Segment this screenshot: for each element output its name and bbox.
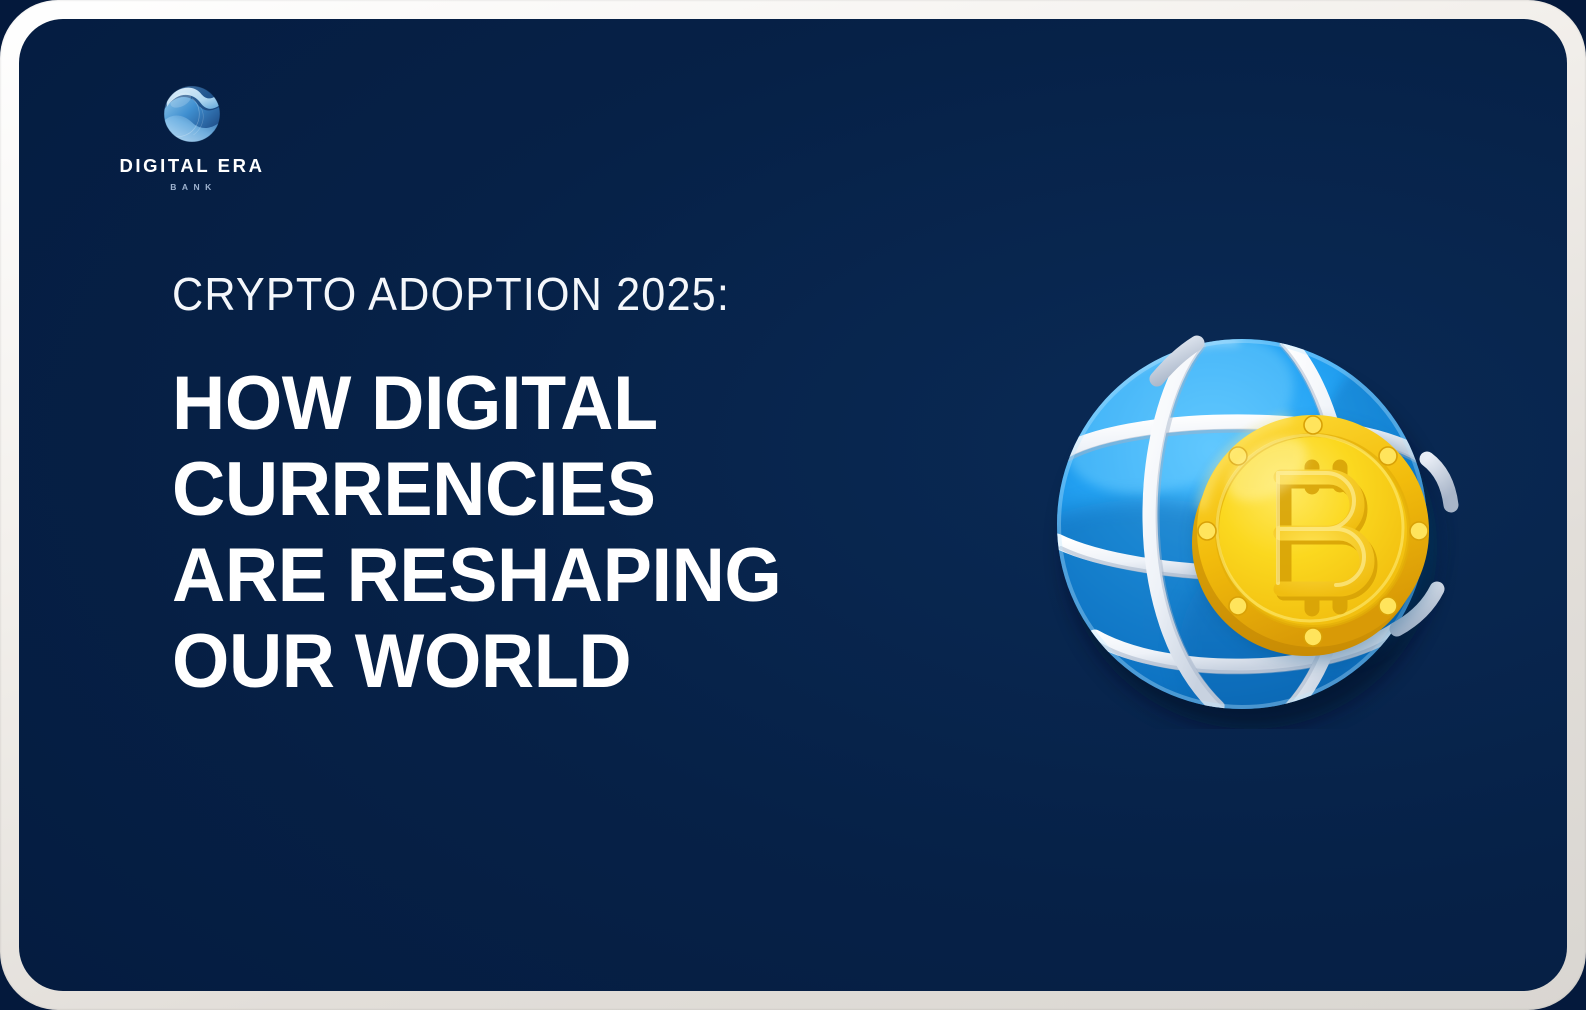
headline-line-1: HOW DIGITAL	[172, 361, 977, 447]
bitcoin-symbol-icon	[1278, 463, 1370, 609]
brand-name: DIGITAL ERA	[97, 157, 287, 176]
brand-logo: DIGITAL ERA BANK	[97, 79, 287, 191]
headline-block: CRYPTO ADOPTION 2025: HOW DIGITAL CURREN…	[172, 271, 1002, 705]
headline-line-4: OUR WORLD	[172, 619, 977, 705]
headline-line-3: ARE RESHAPING	[172, 533, 977, 619]
brand-subtitle: BANK	[97, 183, 287, 192]
globe-with-bitcoin-coin-icon	[1029, 319, 1459, 729]
headline-line-2: CURRENCIES	[172, 447, 977, 533]
poster-content-area: DIGITAL ERA BANK CRYPTO ADOPTION 2025: H…	[19, 19, 1567, 991]
globe-wave-logo-icon	[157, 79, 227, 149]
page-title: HOW DIGITAL CURRENCIES ARE RESHAPING OUR…	[172, 361, 977, 705]
poster-canvas: DIGITAL ERA BANK CRYPTO ADOPTION 2025: H…	[0, 0, 1586, 1010]
eyebrow-text: CRYPTO ADOPTION 2025:	[172, 271, 952, 317]
